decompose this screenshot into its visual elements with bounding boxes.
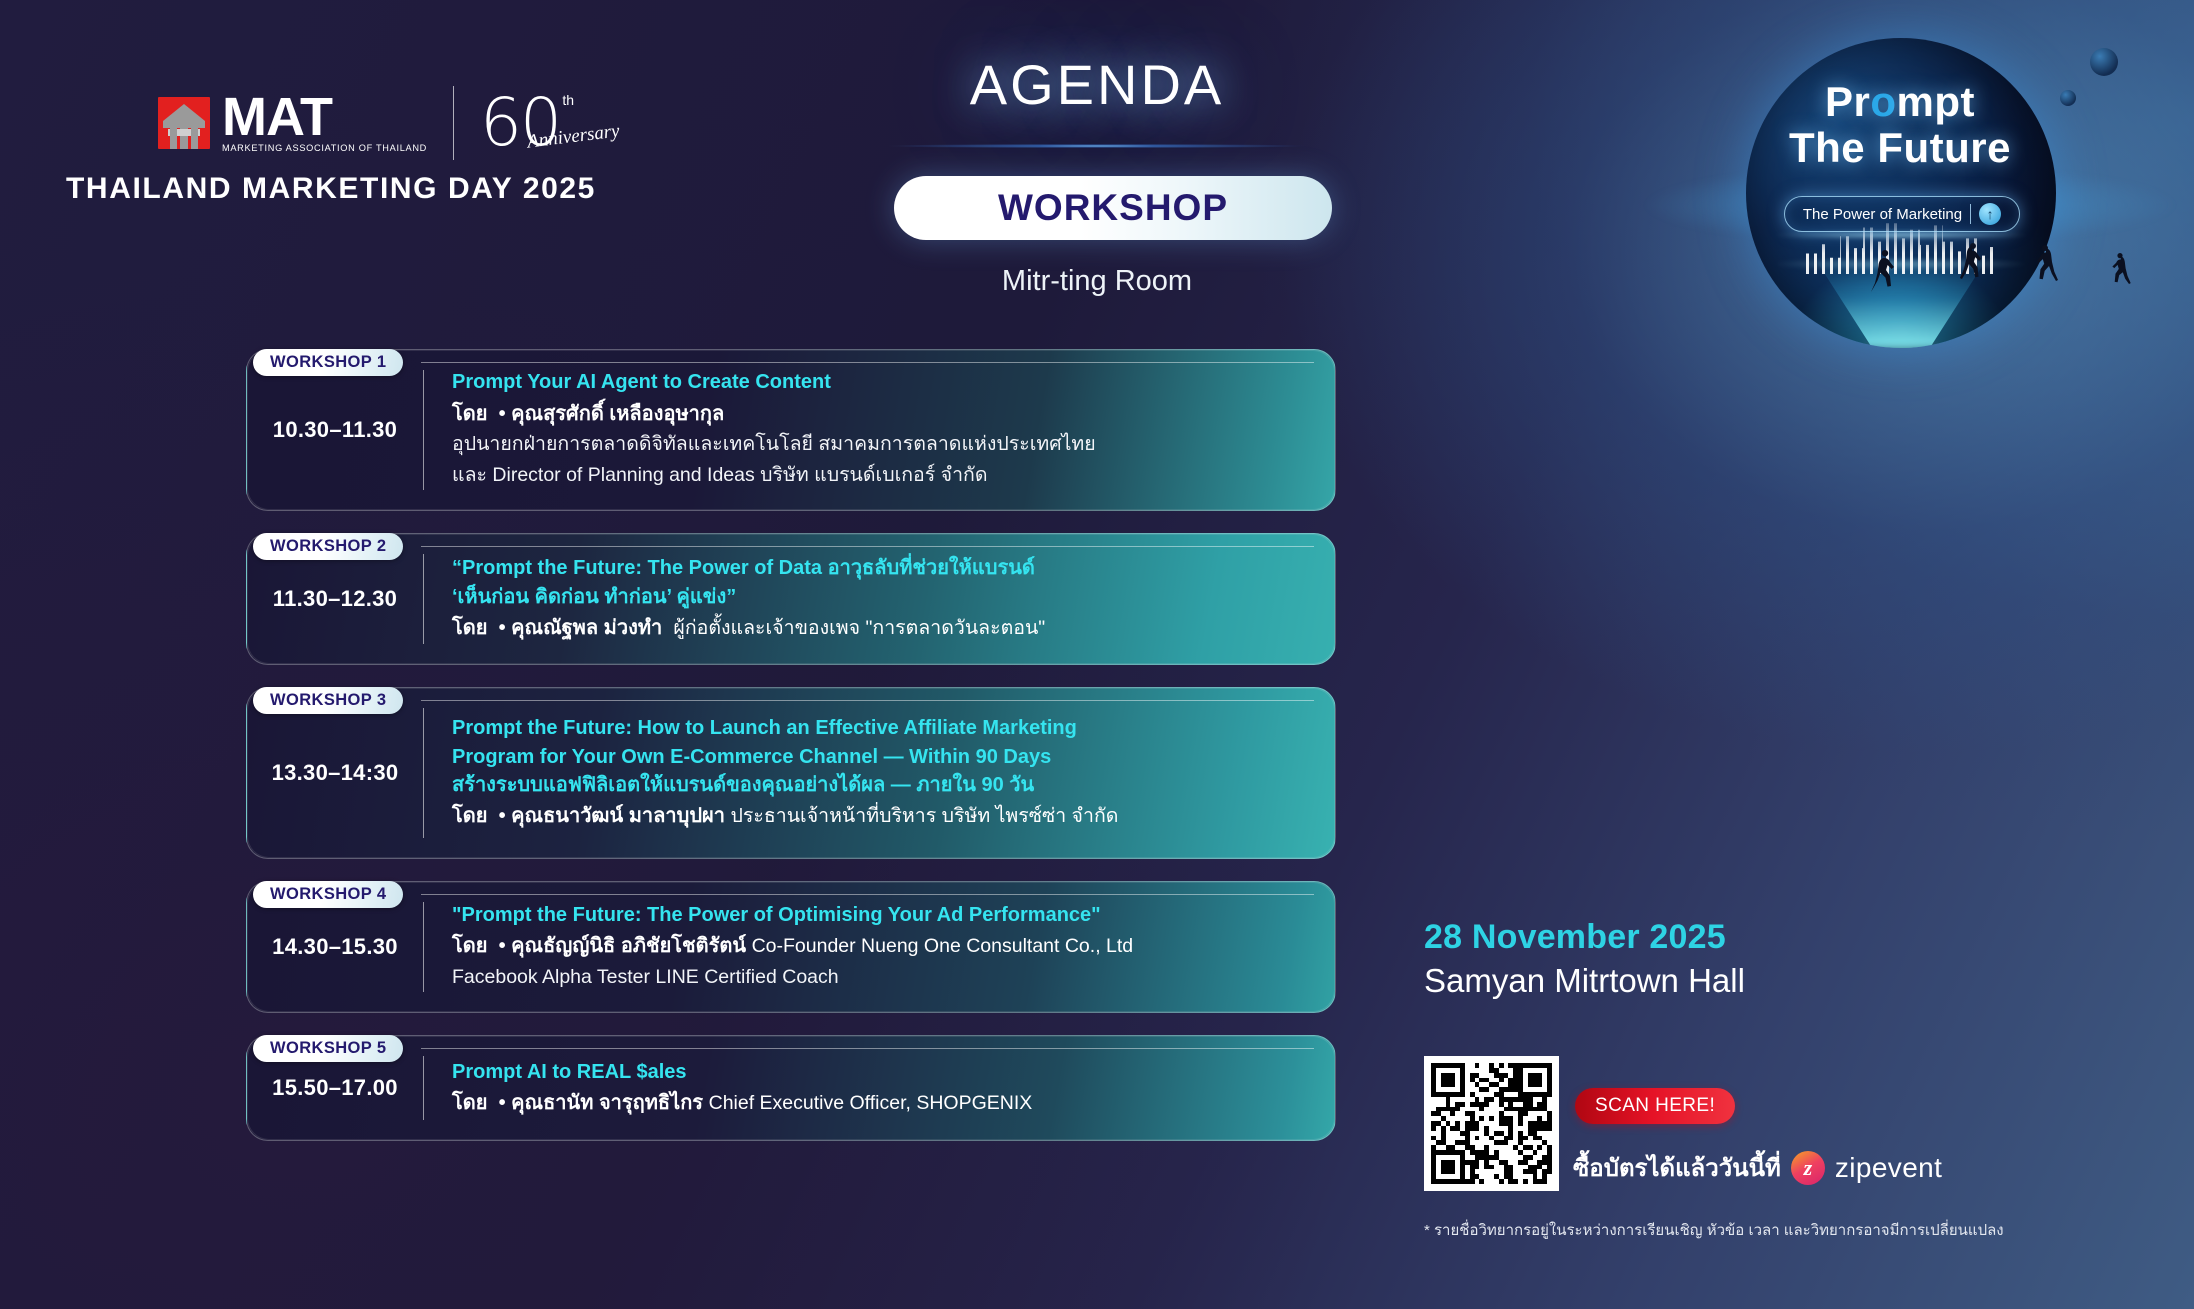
disclaimer-footnote: * รายชื่อวิทยากรอยู่ในระหว่างการเรียนเชิ… — [1424, 1218, 2004, 1242]
workshop-content-5: Prompt AI to REAL $ales โดย • คุณธานัท จ… — [424, 1036, 1335, 1140]
track-pill-label: WORKSHOP — [998, 187, 1228, 229]
workshop-speaker-1: คุณสุรศักดิ์ เหลืองอุษากุล — [511, 403, 724, 425]
workshop-detail-4: Facebook Alpha Tester LINE Certified Coa… — [452, 962, 1309, 994]
campaign-key-visual: Prompt The Future The Power of Marketing… — [1660, 20, 2140, 350]
agenda-item-4: WORKSHOP 4 14.30–15.30 "Prompt the Futur… — [246, 881, 1336, 1013]
tagline-divider — [1970, 204, 1971, 224]
workshop-badge-3: WORKSHOP 3 — [253, 687, 403, 714]
workshop-title-3-a: Prompt the Future: How to Launch an Effe… — [452, 714, 1309, 742]
runner-silhouette-1-icon — [1870, 248, 1896, 294]
bullet-icon-2: • — [499, 617, 506, 639]
event-date: 28 November 2025 — [1424, 918, 1726, 957]
workshop-title-3-c: สร้างระบบแอฟฟิลิเอตให้แบรนด์ของคุณอย่างไ… — [452, 771, 1309, 799]
workshop-badge-3-label: WORKSHOP 3 — [270, 691, 386, 710]
zipevent-logo-icon: z — [1791, 1151, 1825, 1185]
workshop-badge-2-label: WORKSHOP 2 — [270, 537, 386, 556]
workshop-content-4: "Prompt the Future: The Power of Optimis… — [424, 882, 1335, 1012]
workshop-card-5[interactable]: 15.50–17.00 Prompt AI to REAL $ales โดย … — [246, 1035, 1336, 1141]
bullet-icon-1: • — [499, 403, 506, 425]
workshop-speaker-role-3: ประธานเจ้าหน้าที่บริหาร บริษัท ไพรซ์ซ่า … — [731, 805, 1119, 827]
workshop-speaker-3: คุณธนาวัฒน์ มาลาบุปผา — [511, 805, 725, 827]
badge-connector-line-1 — [421, 362, 1314, 363]
qr-code-icon[interactable] — [1424, 1056, 1559, 1191]
campaign-tagline-pill: The Power of Marketing ↑ — [1784, 196, 2020, 232]
campaign-line-1: Prompt — [1660, 78, 2140, 126]
agenda-item-2: WORKSHOP 2 11.30–12.30 “Prompt the Futur… — [246, 533, 1336, 665]
workshop-content-1: Prompt Your AI Agent to Create Content โ… — [424, 350, 1335, 510]
mat-logo: MAT MARKETING ASSOCIATION OF THAILAND 60… — [158, 86, 560, 160]
campaign-prompt-o: o — [1870, 78, 1896, 125]
ticket-purchase-row: ซื้อบัตรได้แล้ววันนี้ที่ z zipevent — [1573, 1148, 1942, 1187]
runner-silhouette-4-icon — [2110, 252, 2132, 288]
workshop-speaker-4: คุณธัญญ์นิธิ อภิชัยโชติรัตน์ — [511, 935, 746, 957]
workshop-badge-5-label: WORKSHOP 5 — [270, 1039, 386, 1058]
workshop-speaker-5: คุณธานัท จารุฤทธิไกร — [511, 1092, 703, 1114]
arrow-up-icon: ↑ — [1979, 203, 2001, 225]
workshop-speaker-role-5: Chief Executive Officer, SHOPGENIX — [709, 1092, 1033, 1114]
workshop-speaker-row-3: โดย • คุณธนาวัฒน์ มาลาบุปผา ประธานเจ้าหน… — [452, 801, 1309, 831]
workshop-badge-4-label: WORKSHOP 4 — [270, 885, 386, 904]
workshop-badge-4: WORKSHOP 4 — [253, 881, 403, 908]
workshop-speaker-row-4: โดย • คุณธัญญ์นิธิ อภิชัยโชติรัตน์ Co-Fo… — [452, 931, 1309, 961]
workshop-badge-5: WORKSHOP 5 — [253, 1035, 403, 1062]
mat-wordmark: MAT — [222, 93, 427, 143]
workshop-detail-1-b: และ Director of Planning and Ideas บริษั… — [452, 460, 1309, 492]
badge-connector-line-5 — [421, 1048, 1314, 1049]
workshop-speaker-2: คุณณัฐพล ม่วงทำ — [511, 617, 662, 639]
track-pill: WORKSHOP — [894, 176, 1332, 240]
workshop-content-3: Prompt the Future: How to Launch an Effe… — [424, 688, 1335, 858]
workshop-title-2-a: “Prompt the Future: The Power of Data อา… — [452, 554, 1309, 582]
agenda-list: WORKSHOP 1 10.30–11.30 Prompt Your AI Ag… — [246, 336, 1336, 1163]
bullet-icon-4: • — [499, 935, 506, 957]
anniversary-ordinal: th — [562, 92, 574, 108]
workshop-title-2-b: ‘เห็นก่อน คิดก่อน ทำก่อน’ คู่แข่ง” — [452, 583, 1309, 611]
workshop-title-3-b: Program for Your Own E-Commerce Channel … — [452, 743, 1309, 771]
workshop-title-1: Prompt Your AI Agent to Create Content — [452, 368, 1309, 396]
agenda-item-1: WORKSHOP 1 10.30–11.30 Prompt Your AI Ag… — [246, 349, 1336, 511]
campaign-tagline-text: The Power of Marketing — [1803, 206, 1962, 223]
campaign-prompt-pre: Pr — [1825, 78, 1870, 125]
decorative-sphere-medium-icon — [2090, 48, 2118, 76]
badge-connector-line-3 — [421, 700, 1314, 701]
event-venue: Samyan Mitrtown Hall — [1424, 962, 1745, 1000]
event-title: THAILAND MARKETING DAY 2025 — [66, 172, 596, 206]
workshop-speaker-row-2: โดย • คุณณัฐพล ม่วงทำ ผู้ก่อตั้งและเจ้าข… — [452, 613, 1309, 643]
agenda-item-3: WORKSHOP 3 13.30–14:30 Prompt the Future… — [246, 687, 1336, 859]
workshop-badge-2: WORKSHOP 2 — [253, 533, 403, 560]
agenda-glow-line — [817, 143, 1377, 149]
workshop-speaker-row-5: โดย • คุณธานัท จารุฤทธิไกร Chief Executi… — [452, 1088, 1309, 1118]
runner-silhouette-3-icon — [2034, 244, 2058, 288]
workshop-card-4[interactable]: 14.30–15.30 "Prompt the Future: The Powe… — [246, 881, 1336, 1013]
anniversary-badge: 60 th Anniversary — [480, 90, 560, 156]
workshop-badge-1-label: WORKSHOP 1 — [270, 353, 386, 372]
scan-here-button[interactable]: SCAN HERE! — [1575, 1088, 1735, 1124]
workshop-card-2[interactable]: 11.30–12.30 “Prompt the Future: The Powe… — [246, 533, 1336, 665]
logo-divider — [453, 86, 454, 160]
campaign-line-2: The Future — [1660, 124, 2140, 172]
by-label-4: โดย — [452, 935, 487, 957]
zipevent-wordmark: zipevent — [1835, 1152, 1943, 1184]
bullet-icon-3: • — [499, 805, 506, 827]
workshop-title-5: Prompt AI to REAL $ales — [452, 1058, 1309, 1086]
workshop-content-2: “Prompt the Future: The Power of Data อา… — [424, 534, 1335, 664]
workshop-card-3[interactable]: 13.30–14:30 Prompt the Future: How to La… — [246, 687, 1336, 859]
workshop-title-4: "Prompt the Future: The Power of Optimis… — [452, 901, 1309, 929]
by-label-1: โดย — [452, 403, 487, 425]
campaign-prompt-post: mpt — [1897, 78, 1976, 125]
workshop-speaker-role-4: Co-Founder Nueng One Consultant Co., Ltd — [752, 935, 1134, 957]
agenda-item-5: WORKSHOP 5 15.50–17.00 Prompt AI to REAL… — [246, 1035, 1336, 1141]
workshop-badge-1: WORKSHOP 1 — [253, 349, 403, 376]
workshop-speaker-row-1: โดย • คุณสุรศักดิ์ เหลืองอุษากุล — [452, 399, 1309, 429]
by-label-3: โดย — [452, 805, 487, 827]
workshop-speaker-role-2: ผู้ก่อตั้งและเจ้าของเพจ "การตลาดวันละตอน… — [673, 617, 1045, 639]
workshop-card-1[interactable]: 10.30–11.30 Prompt Your AI Agent to Crea… — [246, 349, 1336, 511]
workshop-detail-1-a: อุปนายกฝ่ายการตลาดดิจิทัลและเทคโนโลยี สม… — [452, 429, 1309, 461]
bullet-icon-5: • — [499, 1092, 506, 1114]
badge-connector-line-2 — [421, 546, 1314, 547]
buy-ticket-text: ซื้อบัตรได้แล้ววันนี้ที่ — [1573, 1148, 1781, 1187]
runner-silhouette-2-icon — [1960, 242, 1984, 286]
mat-emblem-icon — [158, 97, 210, 149]
scan-here-label: SCAN HERE! — [1595, 1095, 1715, 1117]
mat-org-fullname: MARKETING ASSOCIATION OF THAILAND — [222, 143, 427, 153]
by-label-2: โดย — [452, 617, 487, 639]
by-label-5: โดย — [452, 1092, 487, 1114]
badge-connector-line-4 — [421, 894, 1314, 895]
